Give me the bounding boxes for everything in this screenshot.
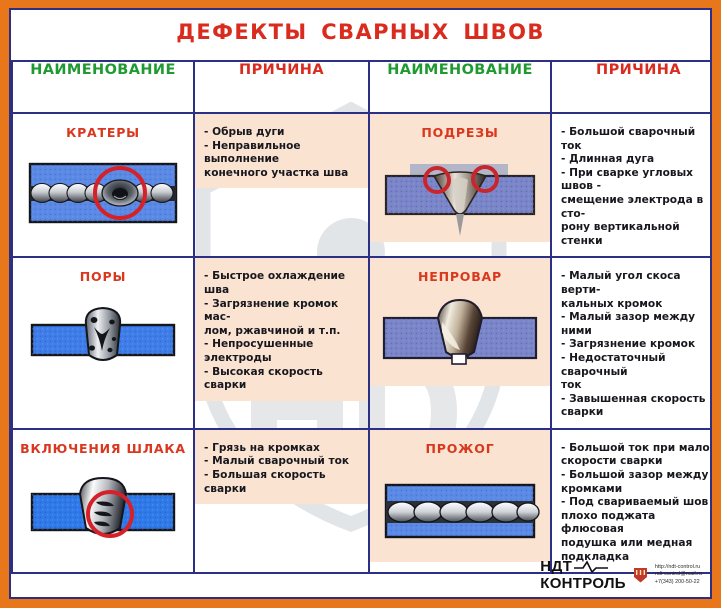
cause-line: - Малый зазор между ними bbox=[561, 311, 712, 338]
cause-list-burn-through: - Большой ток при малой скорости сварки … bbox=[552, 430, 712, 572]
defect-label-pores: ПОРЫ bbox=[13, 258, 193, 290]
page-title: ДЕФЕКТЫ СВАРНЫХ ШВОВ bbox=[11, 20, 710, 44]
crest-icon bbox=[633, 567, 648, 583]
cause-line: - Малый угол скоса верти- bbox=[561, 270, 712, 297]
logo-contacts: http://ndt-control.ru ndt-control@mail.r… bbox=[655, 564, 702, 586]
cell-defect-lack-of-penetration: НЕПРОВАР bbox=[369, 257, 551, 429]
cause-line: - Малый сварочный ток bbox=[204, 455, 361, 469]
cause-line: - Завышенная скорость bbox=[561, 393, 712, 407]
cause-line: - Обрыв дуги bbox=[204, 126, 361, 140]
cause-list-undercuts: - Большой сварочный ток - Длинная дуга -… bbox=[552, 114, 712, 256]
waveform-icon bbox=[574, 560, 608, 573]
cell-cause-lack-of-penetration: - Малый угол скоса верти- кальных кромок… bbox=[551, 257, 712, 429]
cause-line: плохо поджата флюсовая bbox=[561, 510, 712, 537]
cell-cause-slag-inclusions: - Грязь на кромках - Малый сварочный ток… bbox=[194, 429, 369, 573]
cause-list-lack-of-penetration: - Малый угол скоса верти- кальных кромок… bbox=[552, 258, 712, 428]
cell-cause-undercuts: - Большой сварочный ток - Длинная дуга -… bbox=[551, 113, 712, 257]
cause-line: - Недостаточный сварочный bbox=[561, 352, 712, 379]
table-row: ВКЛЮЧЕНИЯ ШЛАКА bbox=[12, 429, 712, 573]
figure-pores bbox=[13, 290, 193, 386]
cause-list-pores: - Быстрое охлаждение шва - Загрязнение к… bbox=[195, 258, 368, 400]
defect-label-lack-of-penetration: НЕПРОВАР bbox=[370, 258, 550, 290]
cause-line: подушка или медная bbox=[561, 537, 712, 551]
cause-line: сварки bbox=[561, 406, 712, 420]
cause-line: - Большой ток при малой bbox=[561, 442, 712, 456]
cause-line: - Большой сварочный ток bbox=[561, 126, 712, 153]
header-name-right: НАИМЕНОВАНИЕ bbox=[369, 61, 551, 113]
contact-phone: +7(343) 200-50-22 bbox=[655, 579, 702, 586]
cell-defect-craters: КРАТЕРЫ bbox=[12, 113, 194, 257]
cause-line: скорости сварки bbox=[561, 455, 712, 469]
cause-line: лом, ржавчиной и т.п. bbox=[204, 325, 361, 339]
cause-list-craters: - Обрыв дуги - Неправильное выполнение к… bbox=[195, 114, 368, 188]
header-cause-right: ПРИЧИНА bbox=[551, 61, 712, 113]
ndt-control-logo: НДТ КОНТРОЛЬ http://ndt-control.ru ndt-c… bbox=[540, 559, 702, 591]
cause-line: - При сварке угловых швов - bbox=[561, 167, 712, 194]
cell-defect-undercuts: ПОДРЕЗЫ bbox=[369, 113, 551, 257]
cause-line: смещение электрода в сто- bbox=[561, 194, 712, 221]
cause-line: - Под свариваемый шов bbox=[561, 496, 712, 510]
logo-line-1: НДТ bbox=[540, 559, 626, 574]
cause-line: кальных кромок bbox=[561, 298, 712, 312]
logo-wordmark: НДТ КОНТРОЛЬ bbox=[540, 559, 626, 591]
table-row: КРАТЕРЫ bbox=[12, 113, 712, 257]
cell-defect-slag-inclusions: ВКЛЮЧЕНИЯ ШЛАКА bbox=[12, 429, 194, 573]
table-row: ПОРЫ bbox=[12, 257, 712, 429]
cause-line: - Высокая скорость сварки bbox=[204, 366, 361, 393]
figure-craters bbox=[13, 146, 193, 242]
cause-list-slag-inclusions: - Грязь на кромках - Малый сварочный ток… bbox=[195, 430, 368, 504]
cause-line: - Длинная дуга bbox=[561, 153, 712, 167]
cause-line: кромками bbox=[561, 483, 712, 497]
contact-website: http://ndt-control.ru bbox=[655, 564, 702, 571]
figure-lack-of-penetration bbox=[370, 290, 550, 386]
table-header-row: НАИМЕНОВАНИЕ ПРИЧИНА НАИМЕНОВАНИЕ ПРИЧИН… bbox=[12, 61, 712, 113]
contact-email: ndt-control@mail.ru bbox=[655, 571, 702, 578]
defect-label-undercuts: ПОДРЕЗЫ bbox=[370, 114, 550, 146]
cause-line: - Большая скорость сварки bbox=[204, 469, 361, 496]
cause-line: конечного участка шва bbox=[204, 167, 361, 181]
cell-defect-pores: ПОРЫ bbox=[12, 257, 194, 429]
cause-line: - Неправильное выполнение bbox=[204, 140, 361, 167]
figure-burn-through bbox=[370, 462, 550, 562]
poster-root: ДЕФЕКТЫ СВАРНЫХ ШВОВ НАИМЕНОВАНИЕ ПРИЧИН… bbox=[0, 0, 721, 608]
defect-label-burn-through: ПРОЖОГ bbox=[370, 430, 550, 462]
defect-label-craters: КРАТЕРЫ bbox=[13, 114, 193, 146]
cause-line: - Загрязнение кромок bbox=[561, 338, 712, 352]
cell-cause-burn-through: - Большой ток при малой скорости сварки … bbox=[551, 429, 712, 573]
cause-line: рону вертикальной стенки bbox=[561, 221, 712, 248]
cell-cause-craters: - Обрыв дуги - Неправильное выполнение к… bbox=[194, 113, 369, 257]
figure-slag-inclusions bbox=[13, 462, 193, 562]
logo-text-control: КОНТРОЛЬ bbox=[540, 576, 626, 591]
cause-line: - Быстрое охлаждение шва bbox=[204, 270, 361, 297]
cause-line: - Загрязнение кромок мас- bbox=[204, 298, 361, 325]
cell-defect-burn-through: ПРОЖОГ bbox=[369, 429, 551, 573]
figure-undercuts bbox=[370, 146, 550, 242]
logo-text-ndt: НДТ bbox=[540, 559, 572, 574]
cause-line: - Большой зазор между bbox=[561, 469, 712, 483]
cell-cause-pores: - Быстрое охлаждение шва - Загрязнение к… bbox=[194, 257, 369, 429]
defects-table: НАИМЕНОВАНИЕ ПРИЧИНА НАИМЕНОВАНИЕ ПРИЧИН… bbox=[11, 60, 712, 574]
title-bar: ДЕФЕКТЫ СВАРНЫХ ШВОВ bbox=[11, 10, 710, 60]
header-cause-left: ПРИЧИНА bbox=[194, 61, 369, 113]
defect-label-slag-inclusions: ВКЛЮЧЕНИЯ ШЛАКА bbox=[13, 430, 193, 462]
cause-line: ток bbox=[561, 379, 712, 393]
cause-line: - Непросушенные электроды bbox=[204, 338, 361, 365]
cause-line: - Грязь на кромках bbox=[204, 442, 361, 456]
header-name-left: НАИМЕНОВАНИЕ bbox=[12, 61, 194, 113]
poster-inner-frame: ДЕФЕКТЫ СВАРНЫХ ШВОВ НАИМЕНОВАНИЕ ПРИЧИН… bbox=[9, 8, 712, 599]
